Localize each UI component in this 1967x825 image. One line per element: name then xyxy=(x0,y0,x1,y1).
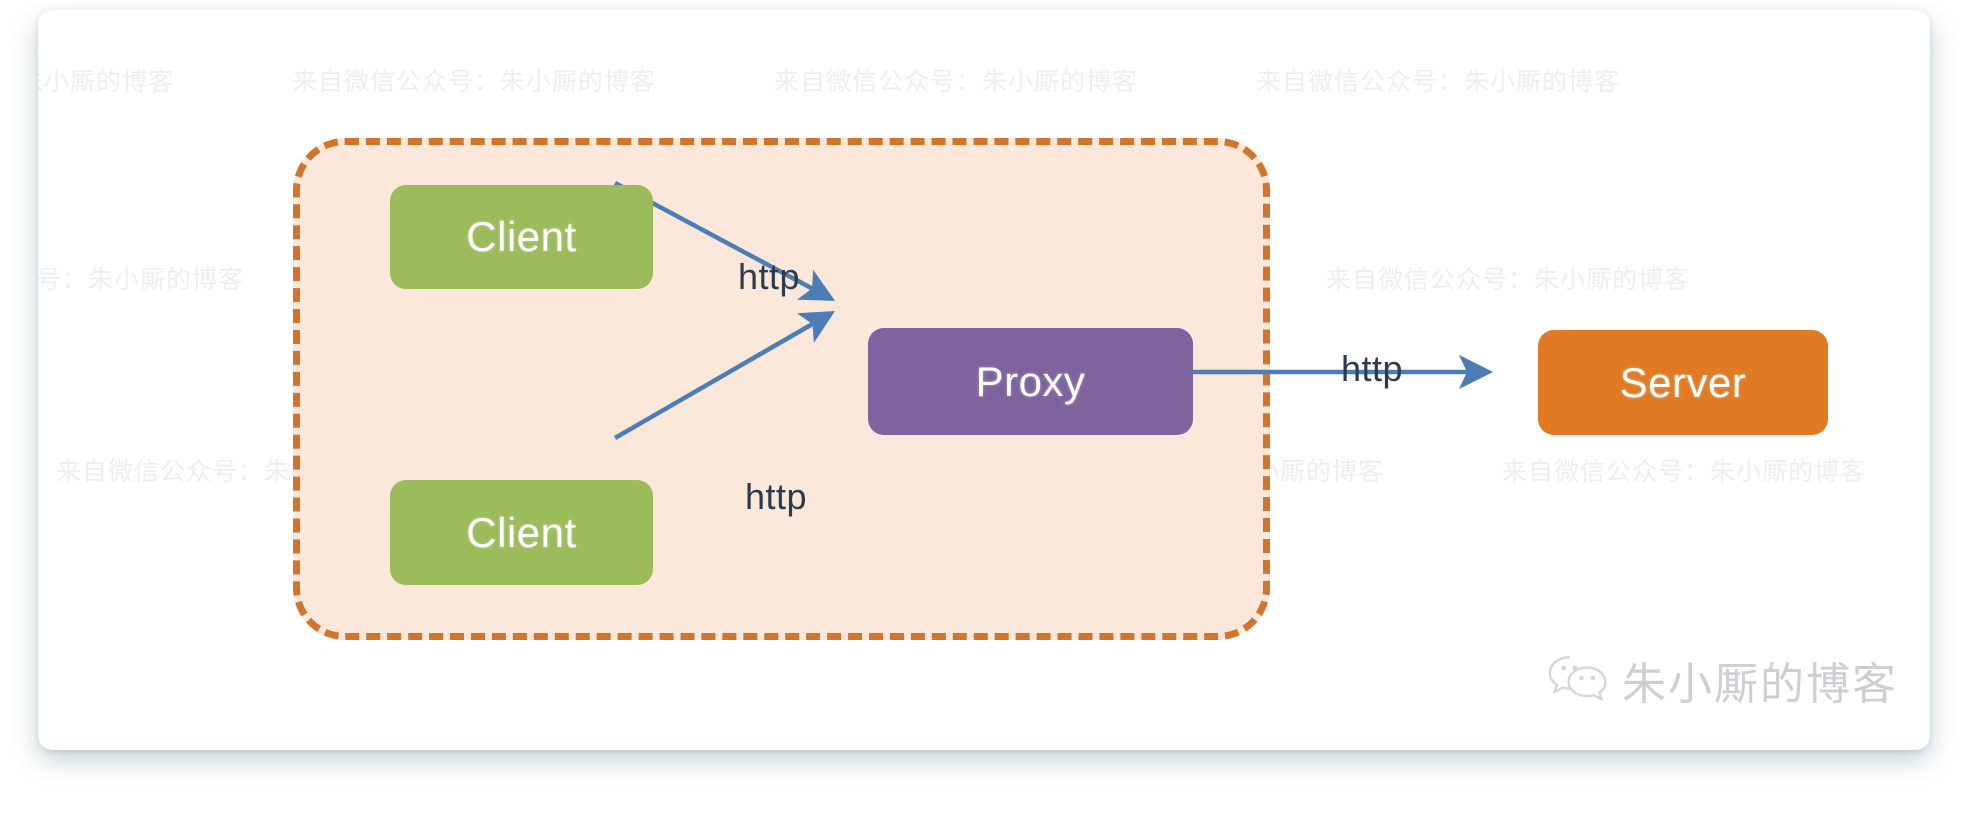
node-label: Client xyxy=(466,509,576,557)
node-client-top[interactable]: Client xyxy=(390,185,653,289)
edge-label-client-top-http: http xyxy=(738,256,800,298)
node-server[interactable]: Server xyxy=(1538,330,1828,435)
edge-label-client-bottom-http: http xyxy=(745,476,807,518)
watermark-row: 来自微信公众号：朱小厮的博客 来自微信公众号：朱小厮的博客 来自微信公众号：朱小… xyxy=(38,62,1930,98)
watermark-text: 来自微信公众号：朱小厮的博客 xyxy=(38,62,174,98)
node-label: Client xyxy=(466,213,576,261)
node-label: Server xyxy=(1620,359,1747,407)
node-label: Proxy xyxy=(976,358,1086,406)
watermark-text: 来自微信公众号：朱小厮的博客 xyxy=(38,260,244,296)
watermark-text: 来自微信公众号：朱小厮的博客 xyxy=(1256,62,1620,98)
node-client-bottom[interactable]: Client xyxy=(390,480,653,585)
brand-name: 朱小厮的博客 xyxy=(1622,648,1898,712)
watermark-text: 来自微信公众号：朱小厮的博客 xyxy=(1326,260,1690,296)
watermark-text: 来自微信公众号：朱小厮的博客 xyxy=(292,62,656,98)
wechat-icon xyxy=(1546,653,1608,708)
watermark-text: 来自微信公众号：朱小厮的博客 xyxy=(1502,452,1866,488)
screenshot-stage: 来自微信公众号：朱小厮的博客 来自微信公众号：朱小厮的博客 来自微信公众号：朱小… xyxy=(0,0,1967,825)
diagram-card-inner: 来自微信公众号：朱小厮的博客 来自微信公众号：朱小厮的博客 来自微信公众号：朱小… xyxy=(38,10,1930,750)
diagram-card: 来自微信公众号：朱小厮的博客 来自微信公众号：朱小厮的博客 来自微信公众号：朱小… xyxy=(38,10,1930,750)
edge-label-proxy-server-http: http xyxy=(1341,348,1403,390)
watermark-text: 来自微信公众号：朱小厮的博客 xyxy=(774,62,1138,98)
brand-watermark: 朱小厮的博客 xyxy=(1546,648,1898,712)
node-proxy[interactable]: Proxy xyxy=(868,328,1193,435)
